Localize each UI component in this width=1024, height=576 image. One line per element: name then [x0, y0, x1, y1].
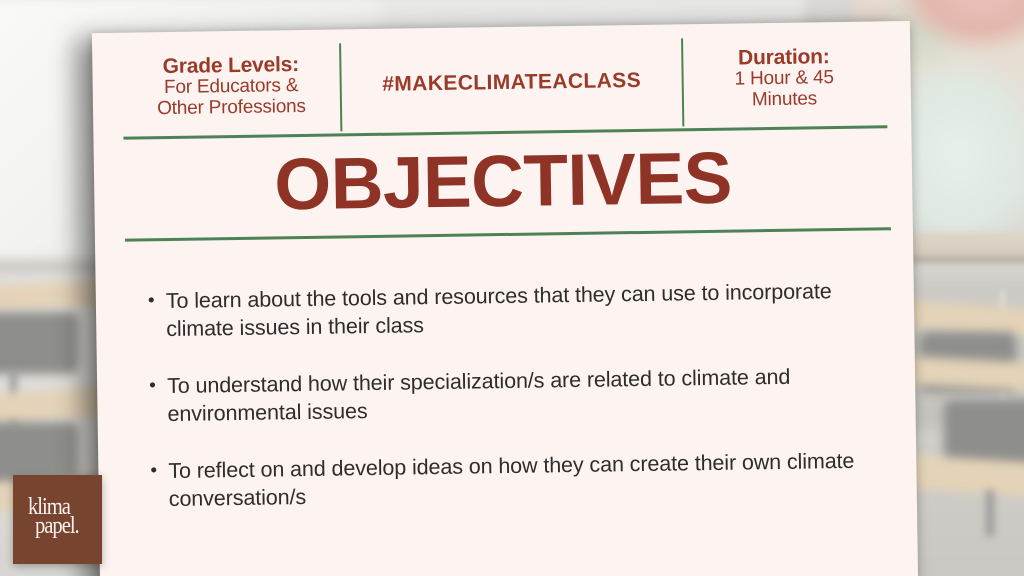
list-item: • To reflect on and develop ideas on how… [150, 446, 891, 514]
bullet-point-icon: • [149, 373, 167, 398]
bullet-point-icon: • [148, 288, 166, 313]
list-item-text: To reflect on and develop ideas on how t… [168, 446, 891, 513]
logo-line-2: papel. [35, 514, 79, 538]
duration-value-line2: Minutes [752, 89, 817, 111]
background-chair-leg [986, 490, 994, 536]
duration-label: Duration: [738, 46, 830, 69]
klima-papel-logo: klima papel. [13, 475, 102, 564]
logo-wordmark: klima papel. [27, 493, 89, 547]
title-rule [125, 227, 891, 241]
list-item: • To learn about the tools and resources… [148, 276, 889, 344]
slide-card: Grade Levels: For Educators & Other Prof… [92, 21, 918, 576]
slide-header: Grade Levels: For Educators & Other Prof… [122, 29, 885, 136]
list-item-text: To learn about the tools and resources t… [166, 276, 889, 343]
background-chair [0, 312, 78, 374]
slide-screenshot: Grade Levels: For Educators & Other Prof… [0, 0, 1024, 576]
objectives-list: • To learn about the tools and resources… [148, 276, 892, 541]
page-title: OBJECTIVES [94, 139, 913, 224]
hashtag-label: #MAKECLIMATEACLASS [382, 69, 641, 97]
grade-levels-value-line2: Other Professions [157, 97, 306, 120]
header-hashtag: #MAKECLIMATEACLASS [341, 32, 683, 133]
header-duration: Duration: 1 Hour & 45 Minutes [683, 29, 885, 128]
header-grade-levels: Grade Levels: For Educators & Other Prof… [122, 37, 340, 136]
list-item: • To understand how their specialization… [149, 361, 890, 429]
list-item-text: To understand how their specialization/s… [167, 361, 890, 428]
duration-value-line1: 1 Hour & 45 [734, 68, 834, 90]
bullet-point-icon: • [150, 458, 168, 483]
